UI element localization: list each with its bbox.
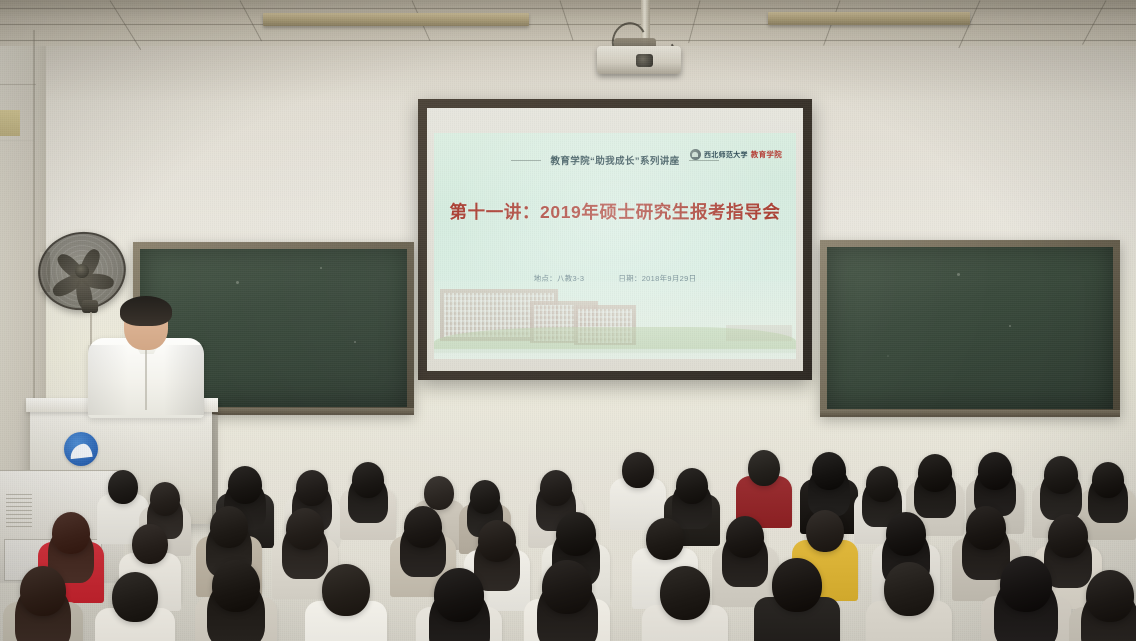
audience-person-head [322,564,370,616]
row-3-front [0,0,1136,641]
audience-person-head [884,562,934,616]
audience-person-head [772,558,822,612]
audience-person-head [1000,556,1052,612]
audience-person-head [112,572,158,622]
audience-person-head [542,560,592,614]
audience-person-head [20,566,66,616]
audience-person-head [212,560,260,612]
audience-person-head [1086,570,1134,622]
audience-person-head [660,566,710,620]
lecture-hall-photo: 教育学院“助我成长”系列讲座 西北师范大学 教育学院 第十一讲：2019年硕士研… [0,0,1136,641]
audience-person-head [434,568,484,622]
